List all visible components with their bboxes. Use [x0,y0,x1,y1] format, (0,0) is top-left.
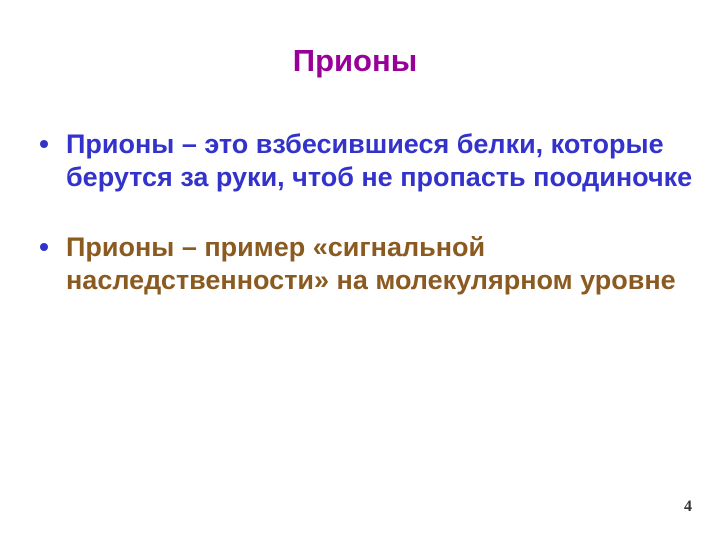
bullet-list: Прионы – это взбесившиеся белки, которые… [36,128,700,298]
page-title: Прионы [0,44,710,78]
list-item-label: Прионы – это взбесившиеся белки, которые… [66,128,700,195]
page-number: 4 [684,498,692,516]
list-item-label: Прионы – пример «сигнальной наследственн… [66,231,700,298]
bullet-dot-icon [40,243,48,251]
bullet-dot-icon [40,140,48,148]
list-item: Прионы – пример «сигнальной наследственн… [36,231,700,298]
slide-canvas: Прионы Прионы – это взбесившиеся белки, … [0,0,720,540]
list-item: Прионы – это взбесившиеся белки, которые… [36,128,700,195]
